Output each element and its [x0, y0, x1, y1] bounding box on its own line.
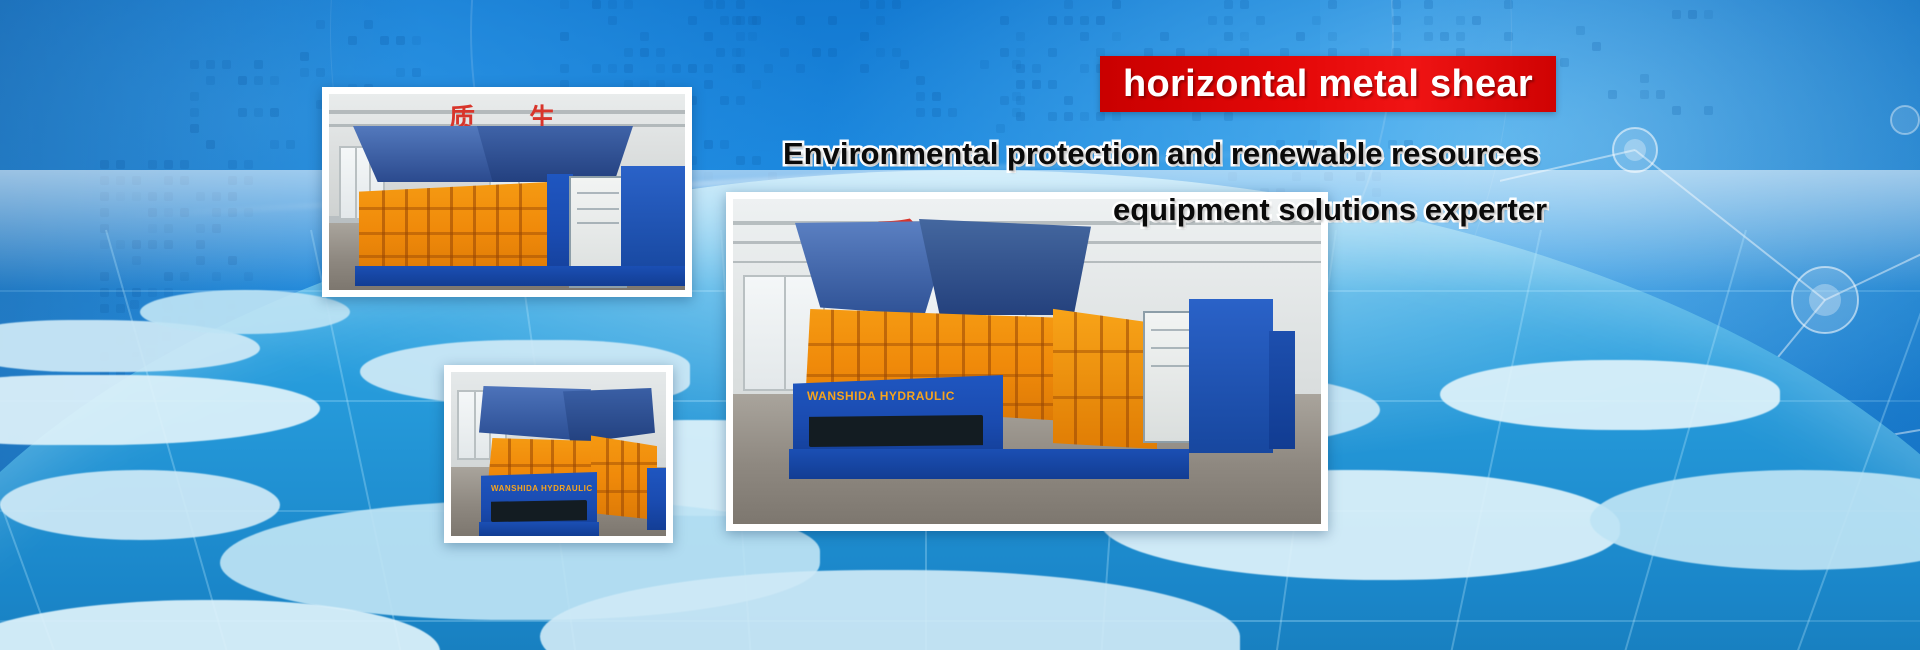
- machine-brand-main: WANSHIDA HYDRAULIC: [807, 389, 955, 403]
- headline-text: horizontal metal shear: [1123, 63, 1533, 106]
- machine-brand-small: WANSHIDA HYDRAULIC: [491, 484, 593, 493]
- photo-top-left: 质 生: [322, 87, 692, 297]
- promo-banner: 质 生: [0, 0, 1920, 650]
- photo-main: 质: [726, 192, 1328, 531]
- tagline-line-1: Environmental protection and renewable r…: [783, 136, 1539, 172]
- photo-small-left: WANSHIDA HYDRAULIC: [444, 365, 673, 543]
- tagline-line-2: equipment solutions experter: [1113, 192, 1547, 228]
- headline-red-box: horizontal metal shear: [1100, 56, 1556, 112]
